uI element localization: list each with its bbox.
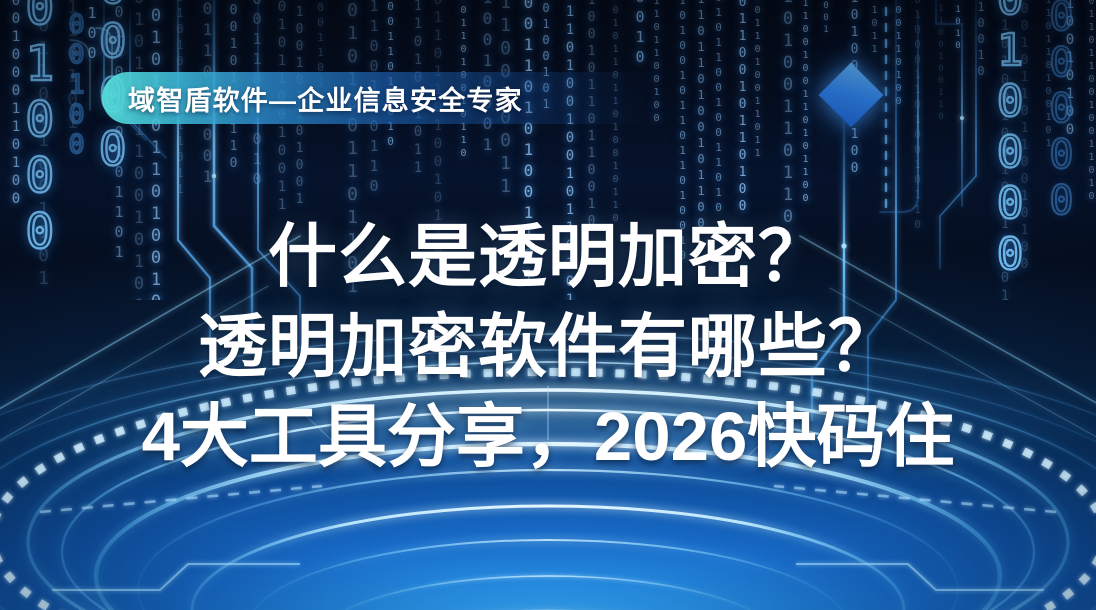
header-badge-label: 域智盾软件—企业信息安全专家 bbox=[128, 79, 523, 118]
header-badge: 域智盾软件—企业信息安全专家 bbox=[102, 72, 662, 124]
banner-root: 0100100011010010110010011010011010111010… bbox=[0, 0, 1096, 610]
